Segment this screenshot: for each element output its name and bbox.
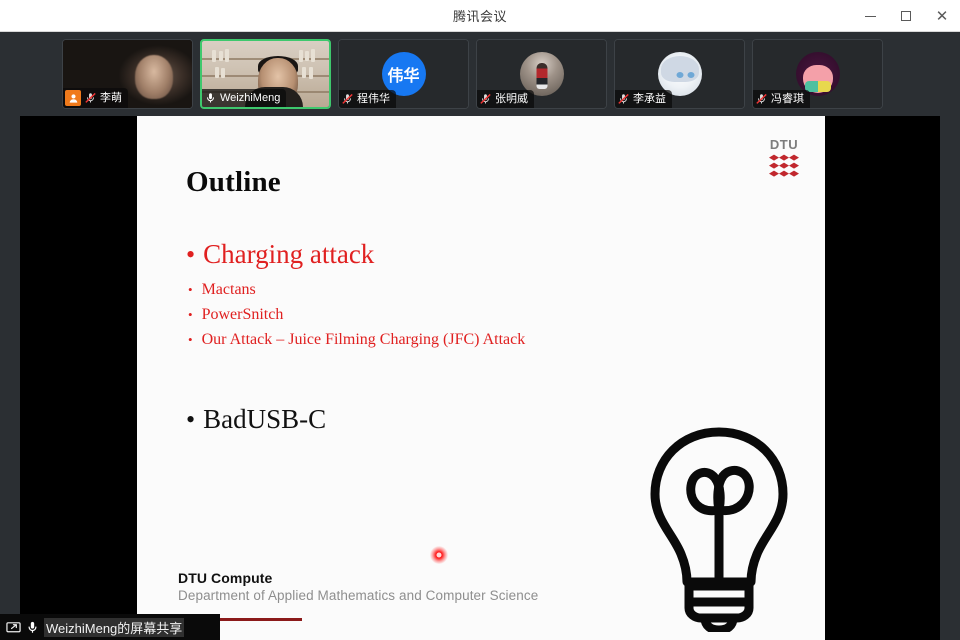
participant-tile-3[interactable]: 伟华 程伟华 [338,39,469,109]
participant-name-6: 冯睿琪 [771,92,804,106]
footer-line-1: DTU Compute [178,569,538,587]
bullet-level1-charging-attack: • Charging attack [186,237,746,271]
participant-tile-1[interactable]: 李萌 [62,39,193,109]
participant-name-4: 张明威 [495,92,528,106]
dtu-logo: DTU [767,138,801,178]
microphone-icon [25,620,40,635]
lightbulb-with-sprout-icon [639,422,799,632]
slide-footer: DTU Compute Department of Applied Mathem… [178,569,538,605]
presentation-slide: DTU Outline • Charging attack [137,116,825,640]
participant-name-5: 李承益 [633,92,666,106]
mic-muted-icon [84,91,97,105]
close-icon: ✕ [936,9,949,24]
title-bar: 腾讯会议 ✕ [0,0,960,32]
tencent-meeting-window: 腾讯会议 ✕ [0,0,960,640]
bullet-level2-powersnitch: • PowerSnitch [188,302,746,327]
bullet-level1-label: BadUSB-C [203,402,326,436]
participant-name-badge-2: WeizhiMeng [202,89,286,107]
bullet-level2-label: Mactans [202,277,256,302]
laser-pointer-dot [430,546,448,564]
host-icon [65,90,81,106]
bullet-dot-icon: • [188,308,193,321]
bullet-level2-mactans: • Mactans [188,277,746,302]
mic-muted-icon [755,92,768,106]
participant-tile-2[interactable]: WeizhiMeng [200,39,331,109]
participant-name-badge-1: 李萌 [63,88,128,108]
share-status-text: WeizhiMeng的屏幕共享 [44,618,184,637]
shared-screen-stage[interactable]: DTU Outline • Charging attack [20,116,940,640]
screen-share-status-bar[interactable]: WeizhiMeng的屏幕共享 [0,614,220,640]
participant-name-1: 李萌 [100,91,122,105]
bullet-dot-icon: • [188,333,193,346]
bullet-level2-label: Our Attack – Juice Filming Charging (JFC… [202,327,526,352]
dtu-logo-wordmark: DTU [770,138,798,152]
participant-name-badge-5: 李承益 [615,90,672,108]
slide-sub-bullets: • Mactans • PowerSnitch • Our Attack – J… [186,277,746,352]
participant-tile-6[interactable]: 冯睿琪 [752,39,883,109]
bullet-level2-jfc-attack: • Our Attack – Juice Filming Charging (J… [188,327,746,352]
page-title: Outline [186,166,281,199]
close-button[interactable]: ✕ [924,0,960,32]
bullet-dot-icon: • [186,407,195,433]
mic-muted-icon [341,92,354,106]
mic-muted-icon [617,92,630,106]
minimize-icon [865,16,876,17]
dtu-logo-bars-icon [769,154,799,178]
bullet-dot-icon: • [188,283,193,296]
participant-tile-4[interactable]: 张明威 [476,39,607,109]
participant-tile-5[interactable]: 李承益 [614,39,745,109]
footer-line-2: Department of Applied Mathematics and Co… [178,587,538,605]
participant-name-badge-3: 程伟华 [339,90,396,108]
window-controls: ✕ [852,0,960,32]
bullet-dot-icon: • [186,242,195,268]
bullet-level1-label: Charging attack [203,237,374,271]
minimize-button[interactable] [852,0,888,32]
bullet-level2-label: PowerSnitch [202,302,284,327]
mic-icon [204,91,217,105]
maximize-button[interactable] [888,0,924,32]
mic-muted-icon [479,92,492,106]
slide-bullet-list: • Charging attack • Mactans • PowerSnitc… [186,237,746,436]
maximize-icon [901,11,911,21]
window-title: 腾讯会议 [453,6,507,25]
participant-name-badge-6: 冯睿琪 [753,90,810,108]
participant-strip: 李萌 [0,32,960,116]
screen-share-icon [6,620,21,635]
participant-name-badge-4: 张明威 [477,90,534,108]
participant-name-2: WeizhiMeng [220,91,280,105]
participant-name-3: 程伟华 [357,92,390,106]
